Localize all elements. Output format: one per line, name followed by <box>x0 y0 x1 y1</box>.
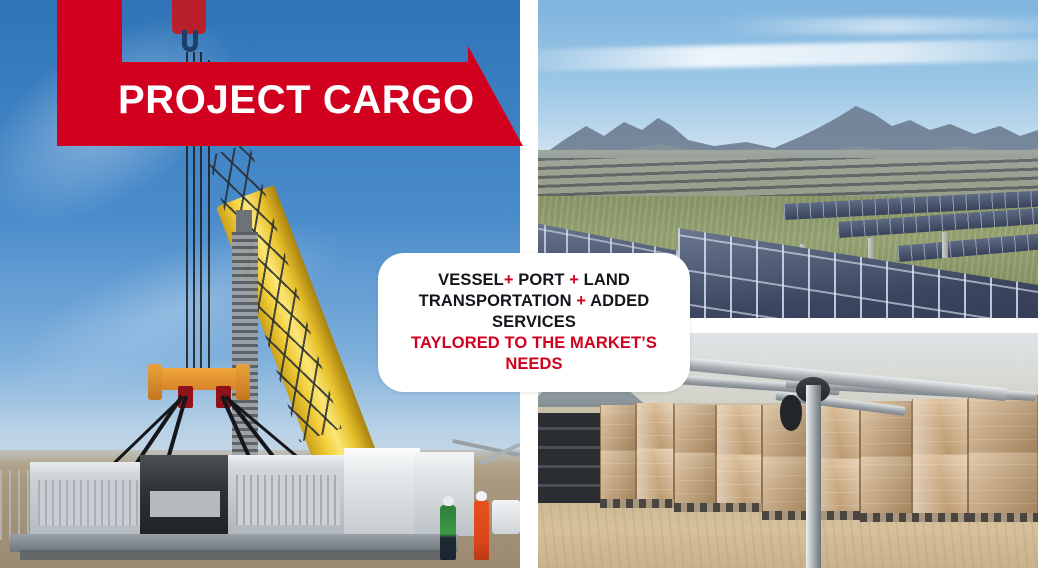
callout-line: TRANSPORTATION + ADDED <box>419 291 650 312</box>
module-crate <box>600 405 636 451</box>
module-crate <box>716 405 762 455</box>
callout-line: SERVICES <box>492 312 576 333</box>
callout-segment: TAYLORED TO THE MARKET’S <box>411 334 657 352</box>
project-cargo-poster: PROJECT CARGO VESSEL+ PORT + LAND TRANSP… <box>0 0 1038 568</box>
callout-segment: VESSEL <box>438 271 504 289</box>
callout-segment: LAND <box>579 271 630 289</box>
cargo-module-transformer <box>140 455 232 541</box>
module-crate <box>762 457 810 515</box>
tracker-column <box>806 385 821 568</box>
steel-tube-stack <box>538 413 600 503</box>
callout-segment: TRANSPORTATION <box>419 292 577 310</box>
module-crate <box>636 449 674 503</box>
panel-support-post <box>942 232 948 258</box>
mountain-range <box>538 96 1038 158</box>
module-crate <box>674 405 716 453</box>
cloud-wisp-icon <box>718 18 1038 34</box>
headline-banner: PROJECT CARGO <box>0 0 540 160</box>
module-crate <box>912 455 968 517</box>
callout-segment: + <box>504 271 514 289</box>
page-title: PROJECT CARGO <box>118 80 475 120</box>
callout-segment: + <box>576 292 586 310</box>
shipping-pallet <box>674 503 762 512</box>
services-callout: VESSEL+ PORT + LAND TRANSPORTATION + ADD… <box>378 253 690 392</box>
cargo-module <box>344 448 420 540</box>
cloud-band-icon <box>538 39 1038 72</box>
mountain-silhouette-icon <box>538 96 1038 158</box>
cargo-module <box>30 462 148 536</box>
shipping-pallet <box>860 513 968 522</box>
module-crate <box>600 451 636 503</box>
module-crate <box>912 399 968 455</box>
shipping-pallet <box>600 499 674 508</box>
module-crate <box>674 453 716 507</box>
callout-line: VESSEL+ PORT + LAND <box>438 270 630 291</box>
site-vehicle <box>492 500 520 534</box>
callout-line-accent: NEEDS <box>505 354 562 375</box>
shipping-pallet <box>968 513 1038 522</box>
spreader-beam-end <box>148 364 162 400</box>
callout-segment: ADDED <box>586 292 649 310</box>
worker-green-vest <box>440 505 456 560</box>
callout-line-accent: TAYLORED TO THE MARKET’S <box>411 333 657 354</box>
tool-bag <box>780 395 802 431</box>
callout-segment: + <box>569 271 579 289</box>
spreader-beam-end <box>236 364 250 400</box>
worker-orange-coverall <box>474 500 489 560</box>
module-crate <box>968 453 1038 517</box>
callout-segment: SERVICES <box>492 313 576 331</box>
module-crate <box>860 457 912 517</box>
cargo-module <box>228 455 348 539</box>
module-crate <box>968 395 1038 453</box>
callout-segment: PORT <box>514 271 570 289</box>
module-crate <box>636 403 674 449</box>
transport-deck-shadow <box>20 550 450 560</box>
callout-segment: NEEDS <box>505 355 562 373</box>
